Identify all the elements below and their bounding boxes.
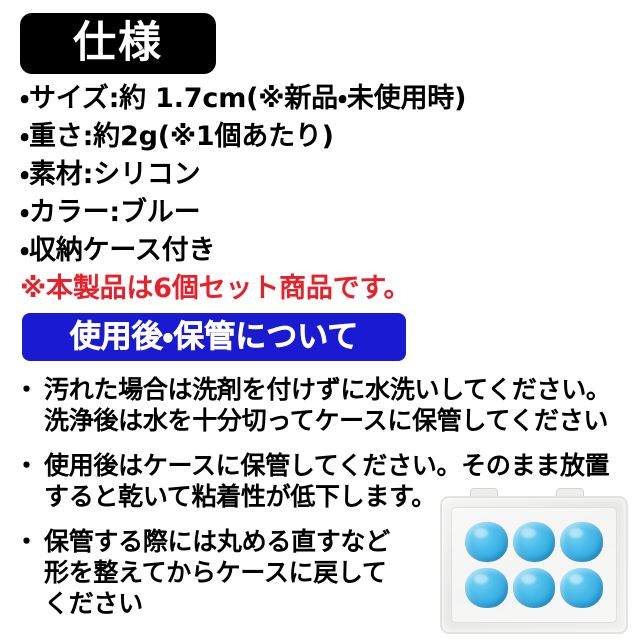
spec-item-material: ・素材:シリコン [20,156,630,194]
earplug-item [513,522,556,562]
care-heading-banner: 使用後・保管について [22,313,406,361]
bullet-icon: ・ [14,374,44,405]
case-inner-tray [451,507,617,623]
spec-heading-label: 仕様 [73,22,163,65]
care-item-washing-text: 汚れた場合は洗剤を付けずに水洗いしてください。 洗浄後は水を十分切ってケースに保… [44,374,611,436]
earplug-grid [465,522,603,608]
bullet-icon: ・ [14,526,44,557]
storage-case [440,496,628,634]
earplug-item [560,522,603,562]
spec-heading-badge: 仕様 [20,13,216,74]
bullet-icon: ・ [14,450,44,481]
product-spec-page: 仕様 ・サイズ:約 1.7cm(※新品・未使用時) ・重さ:約2g(※1個あたり… [0,0,640,640]
spec-item-color: ・カラー:ブルー [20,194,630,232]
spec-list: ・サイズ:約 1.7cm(※新品・未使用時) ・重さ:約2g(※1個あたり) ・… [20,80,630,308]
care-item-washing: ・ 汚れた場合は洗剤を付けずに水洗いしてください。 洗浄後は水を十分切ってケース… [14,374,634,436]
spec-item-size: ・サイズ:約 1.7cm(※新品・未使用時) [20,80,630,118]
earplug-item [513,568,556,608]
earplug-item [465,568,508,608]
earplug-item [560,568,603,608]
product-photo-earplug-case [438,488,628,632]
care-heading-label: 使用後・保管について [70,322,359,353]
spec-item-weight: ・重さ:約2g(※1個あたり) [20,118,630,156]
earplug-item [465,522,508,562]
care-item-reshape-text: 保管する際には丸める直すなど 形を整えてからケースに戻して ください [44,526,390,619]
spec-set-quantity-note: ※本製品は6個セット商品です。 [20,270,630,308]
spec-item-case-included: ・収納ケース付き [20,232,630,270]
